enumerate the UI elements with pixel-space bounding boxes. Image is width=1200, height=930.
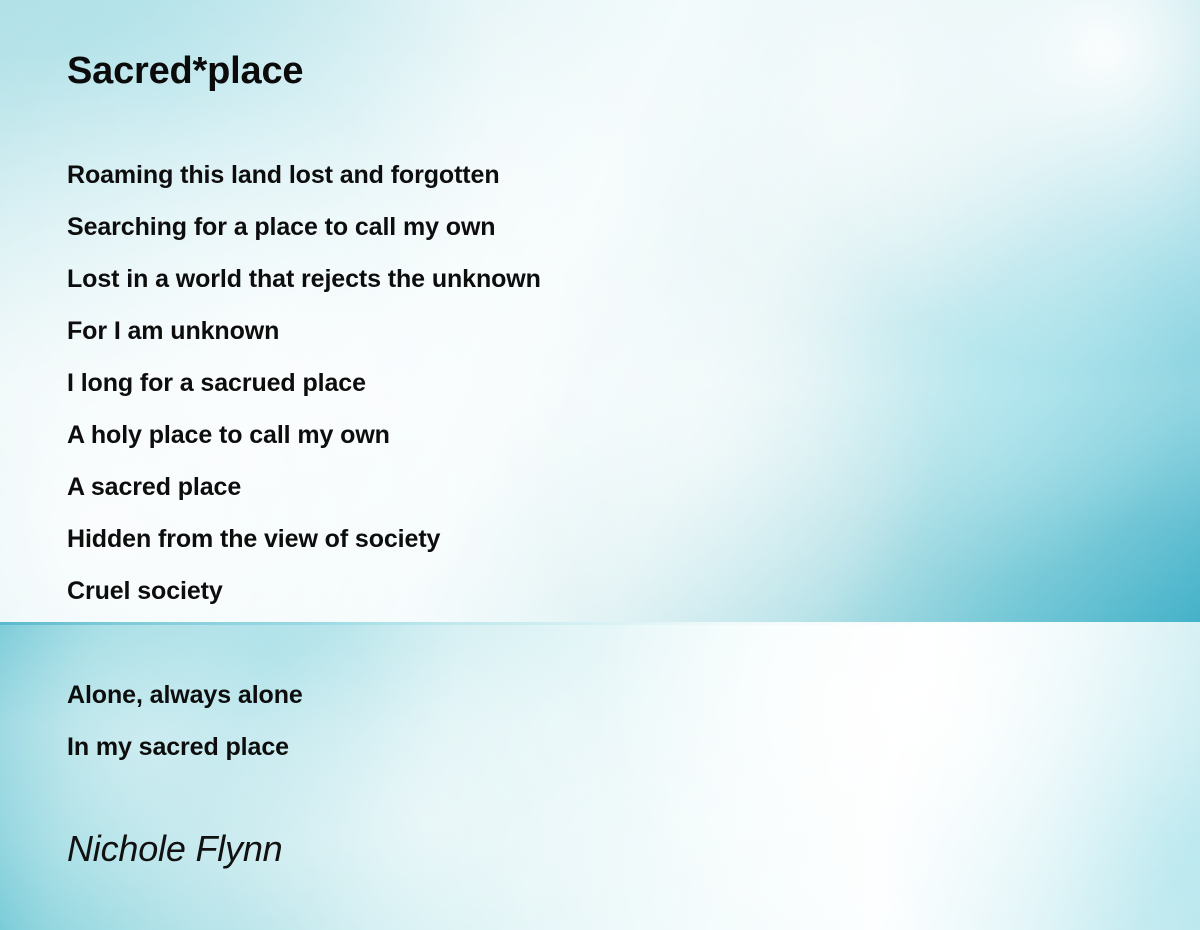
poem-line: In my sacred place [67, 732, 303, 784]
poem-author: Nichole Flynn [67, 828, 283, 870]
poem-line: I long for a sacrued place [67, 368, 541, 420]
poem-content: Sacred*place Roaming this land lost and … [0, 0, 1200, 930]
poem-stanza-1: Roaming this land lost and forgotten Sea… [67, 160, 541, 628]
poem-card: Sacred*place Roaming this land lost and … [0, 0, 1200, 930]
poem-title: Sacred*place [67, 50, 303, 93]
poem-line: A holy place to call my own [67, 420, 541, 472]
poem-line: Lost in a world that rejects the unknown [67, 264, 541, 316]
poem-line: Alone, always alone [67, 680, 303, 732]
poem-line: A sacred place [67, 472, 541, 524]
poem-line: Cruel society [67, 576, 541, 628]
poem-line: For I am unknown [67, 316, 541, 368]
poem-stanza-2: Alone, always alone In my sacred place [67, 680, 303, 784]
poem-line: Hidden from the view of society [67, 524, 541, 576]
poem-line: Roaming this land lost and forgotten [67, 160, 541, 212]
poem-line: Searching for a place to call my own [67, 212, 541, 264]
